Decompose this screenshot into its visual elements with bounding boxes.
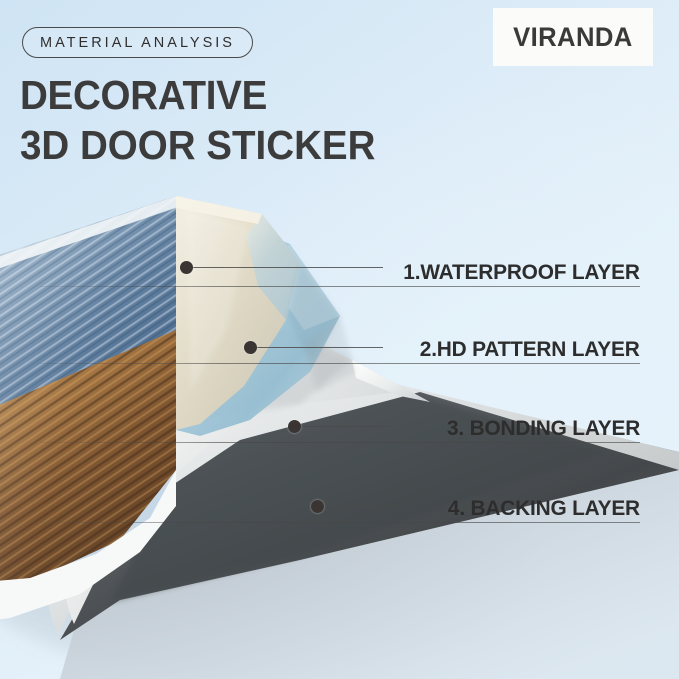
callout-label: 2.HD PATTERN LAYER [420,337,640,362]
callout-leader-line [301,426,391,427]
callout-leader-line [324,506,396,507]
layer-callouts: 1.WATERPROOF LAYER2.HD PATTERN LAYER3. B… [0,0,679,679]
callout-leader-line [257,347,383,348]
infographic-poster: MATERIAL ANALYSIS VIRANDA DECORATIVE 3D … [0,0,679,679]
callout-label: 3. BONDING LAYER [447,416,640,441]
callout-label: 1.WATERPROOF LAYER [404,260,640,285]
callout-underline [40,363,640,364]
callout-layer-4: 4. BACKING LAYER [0,477,679,523]
callout-dot-marker [311,500,324,513]
callout-underline [40,442,640,443]
callout-dot-marker [288,420,301,433]
callout-layer-1: 1.WATERPROOF LAYER [0,241,679,287]
callout-dot-marker [180,261,193,274]
callout-dot-marker [244,341,257,354]
callout-leader-line [193,267,383,268]
callout-label: 4. BACKING LAYER [448,496,640,521]
callout-underline [40,522,640,523]
callout-layer-2: 2.HD PATTERN LAYER [0,318,679,364]
callout-layer-3: 3. BONDING LAYER [0,397,679,443]
callout-underline [40,286,640,287]
